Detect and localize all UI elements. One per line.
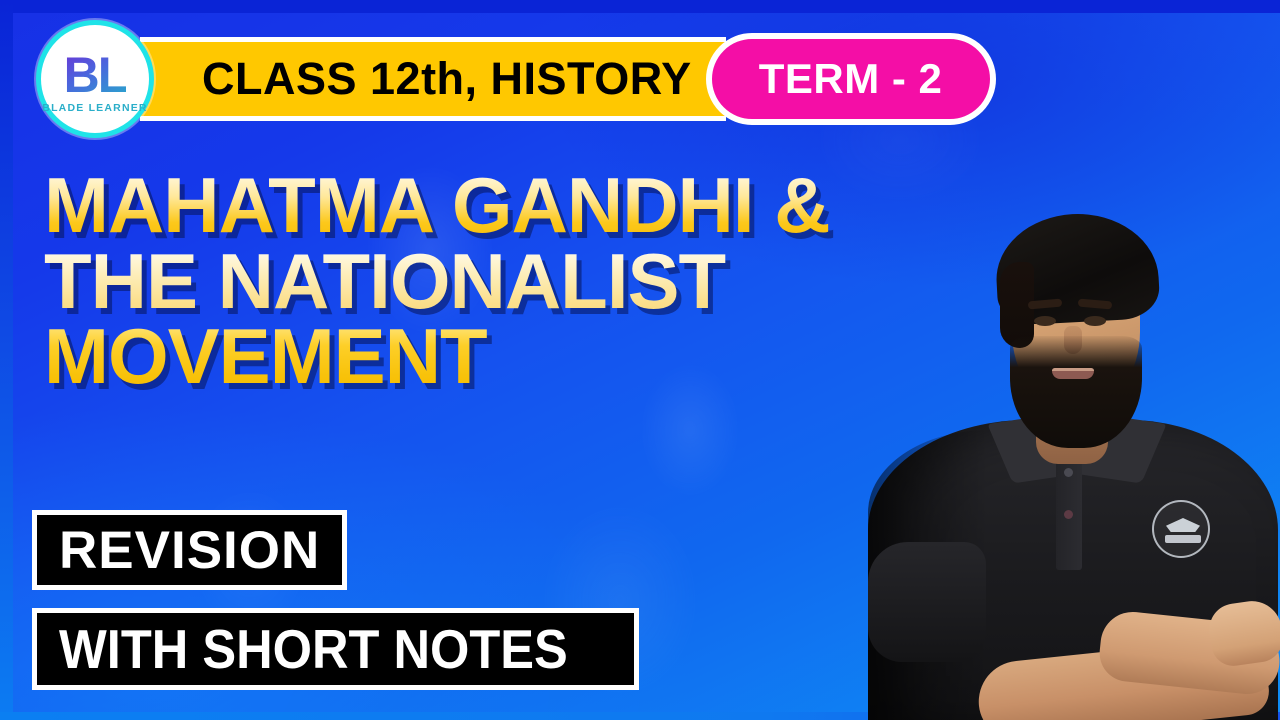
presenter-sleeve-left xyxy=(868,542,986,662)
presenter-mouth xyxy=(1052,368,1094,379)
headline-line-1: MAHATMA GANDHI & xyxy=(44,168,1004,244)
short-notes-label-box: WITH SHORT NOTES xyxy=(32,608,639,690)
presenter-shirt-button-bottom xyxy=(1064,510,1073,519)
blade-learner-logo-icon: BL BLADE LEARNER xyxy=(36,20,154,138)
presenter-shirt-button-top xyxy=(1064,468,1073,477)
headline-line-3: MOVEMENT xyxy=(44,319,1004,395)
banner-group: CLASS 12th, HISTORY TERM - 2 xyxy=(140,37,996,121)
logo-wordmark: BLADE LEARNER xyxy=(42,102,147,114)
term-badge-text: TERM - 2 xyxy=(759,55,943,103)
page-title: MAHATMA GANDHI & THE NATIONALIST MOVEMEN… xyxy=(44,168,1004,395)
presenter-eye-left xyxy=(1034,316,1056,326)
thumbnail-canvas: BL BLADE LEARNER CLASS 12th, HISTORY TER… xyxy=(0,0,1280,720)
background-edge-left xyxy=(0,0,13,720)
revision-label-text: REVISION xyxy=(59,524,320,577)
blade-learner-chest-logo-icon xyxy=(1152,500,1210,558)
class-subject-banner: CLASS 12th, HISTORY xyxy=(140,37,726,121)
short-notes-label-text: WITH SHORT NOTES xyxy=(59,622,568,677)
headline-line-2: THE NATIONALIST xyxy=(44,244,1004,320)
term-badge: TERM - 2 xyxy=(706,33,996,125)
background-edge-top xyxy=(0,0,1280,13)
logo-monogram: BL xyxy=(64,50,127,100)
top-banner-row: BL BLADE LEARNER CLASS 12th, HISTORY TER… xyxy=(36,20,996,138)
presenter-eye-right xyxy=(1084,316,1106,326)
revision-label-box: REVISION xyxy=(32,510,347,590)
class-subject-text: CLASS 12th, HISTORY xyxy=(202,53,692,105)
